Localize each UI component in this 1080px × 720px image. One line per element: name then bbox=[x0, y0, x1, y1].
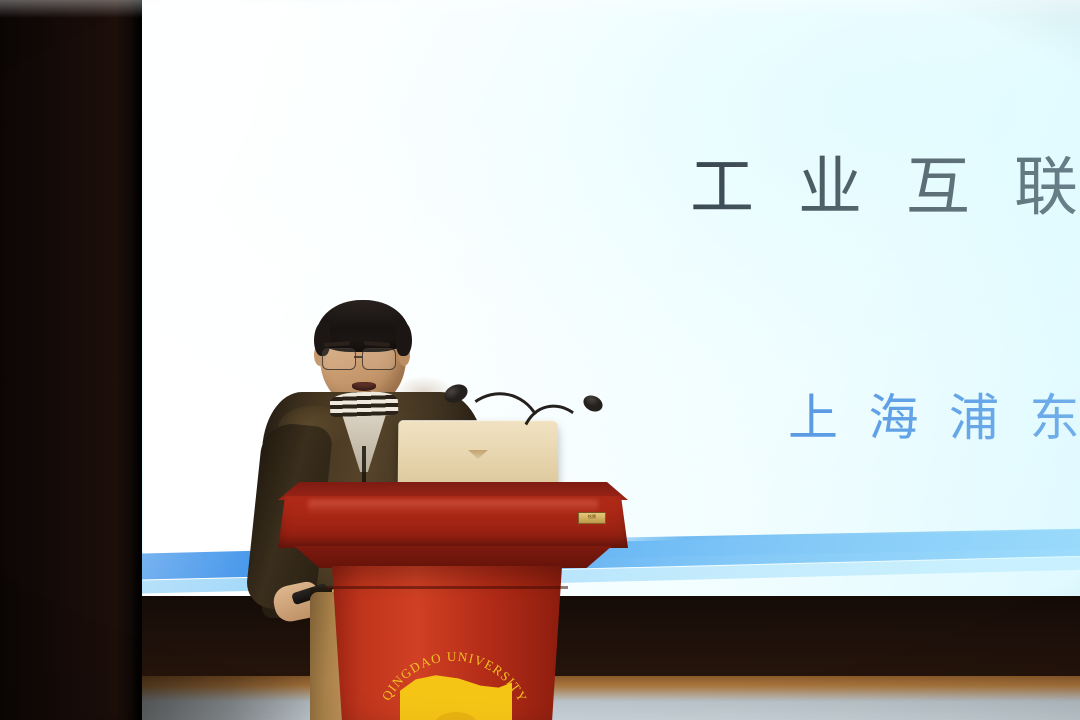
jacket-striped-collar bbox=[330, 391, 399, 417]
glasses-lens-right-icon bbox=[362, 348, 396, 370]
photo-scene: drive to innovate 工 业 互 联 上 海 浦 东 bbox=[0, 0, 1080, 720]
stage-curtain-left bbox=[0, 0, 142, 720]
podium-plaque-text: 铭牌 bbox=[579, 513, 605, 521]
podium-bevel bbox=[294, 546, 612, 568]
glasses-bridge-icon bbox=[354, 356, 362, 358]
podium-slab-highlight bbox=[308, 500, 598, 514]
glasses-lens-left-icon bbox=[322, 348, 356, 370]
slide-headline: 工 业 互 联 bbox=[690, 154, 1080, 221]
speaker-hair-side-right bbox=[396, 322, 412, 356]
podium: 铭牌 QINGDAO UNIVERSITY bbox=[278, 482, 628, 720]
slide-subheadline: 上 海 浦 东 bbox=[788, 392, 1080, 445]
podium-plaque: 铭牌 bbox=[578, 512, 606, 524]
podium-body-seam bbox=[326, 586, 568, 589]
speaker-mouth bbox=[352, 382, 376, 391]
partner-logo-underline bbox=[242, 0, 402, 1]
university-emblem: QINGDAO UNIVERSITY bbox=[374, 624, 534, 720]
slide-logo-row: drive to innovate bbox=[138, 0, 1080, 14]
